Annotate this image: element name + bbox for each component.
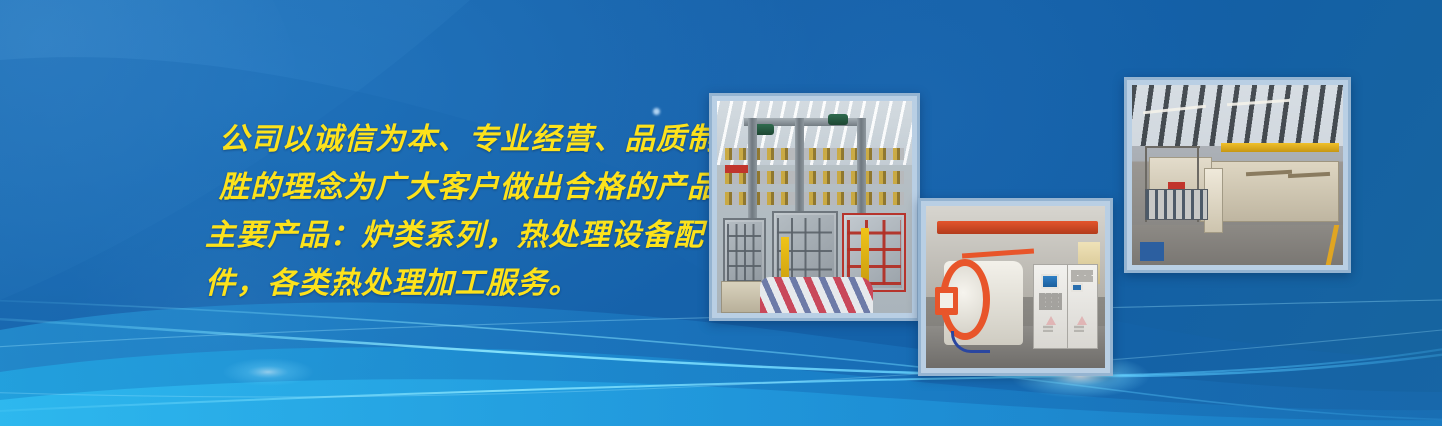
promo-banner: 公司以诚信为本、专业经营、品质制 胜的理念为广大客户做出合格的产品。 主要产品：…	[0, 0, 1442, 426]
photo-continuous-line-image	[1132, 85, 1343, 265]
sparkle-dot	[653, 108, 660, 115]
photo-bell-type-furnace-hall	[709, 93, 920, 321]
copy-line-2: 胜的理念为广大客户做出合格的产品。	[205, 164, 715, 212]
marketing-copy: 公司以诚信为本、专业经营、品质制 胜的理念为广大客户做出合格的产品。 主要产品：…	[205, 116, 715, 308]
copy-line-1: 公司以诚信为本、专业经营、品质制	[205, 116, 715, 164]
photo-bell-type-furnace-hall-image	[717, 101, 912, 313]
photo-vacuum-furnace-image	[926, 206, 1105, 368]
copy-line-4: 件，各类热处理加工服务。	[205, 260, 715, 308]
photo-continuous-heat-treatment-line	[1124, 77, 1351, 273]
copy-line-3: 主要产品：炉类系列，热处理设备配	[205, 212, 715, 260]
photo-vacuum-furnace-with-control-cabinet	[918, 198, 1113, 376]
